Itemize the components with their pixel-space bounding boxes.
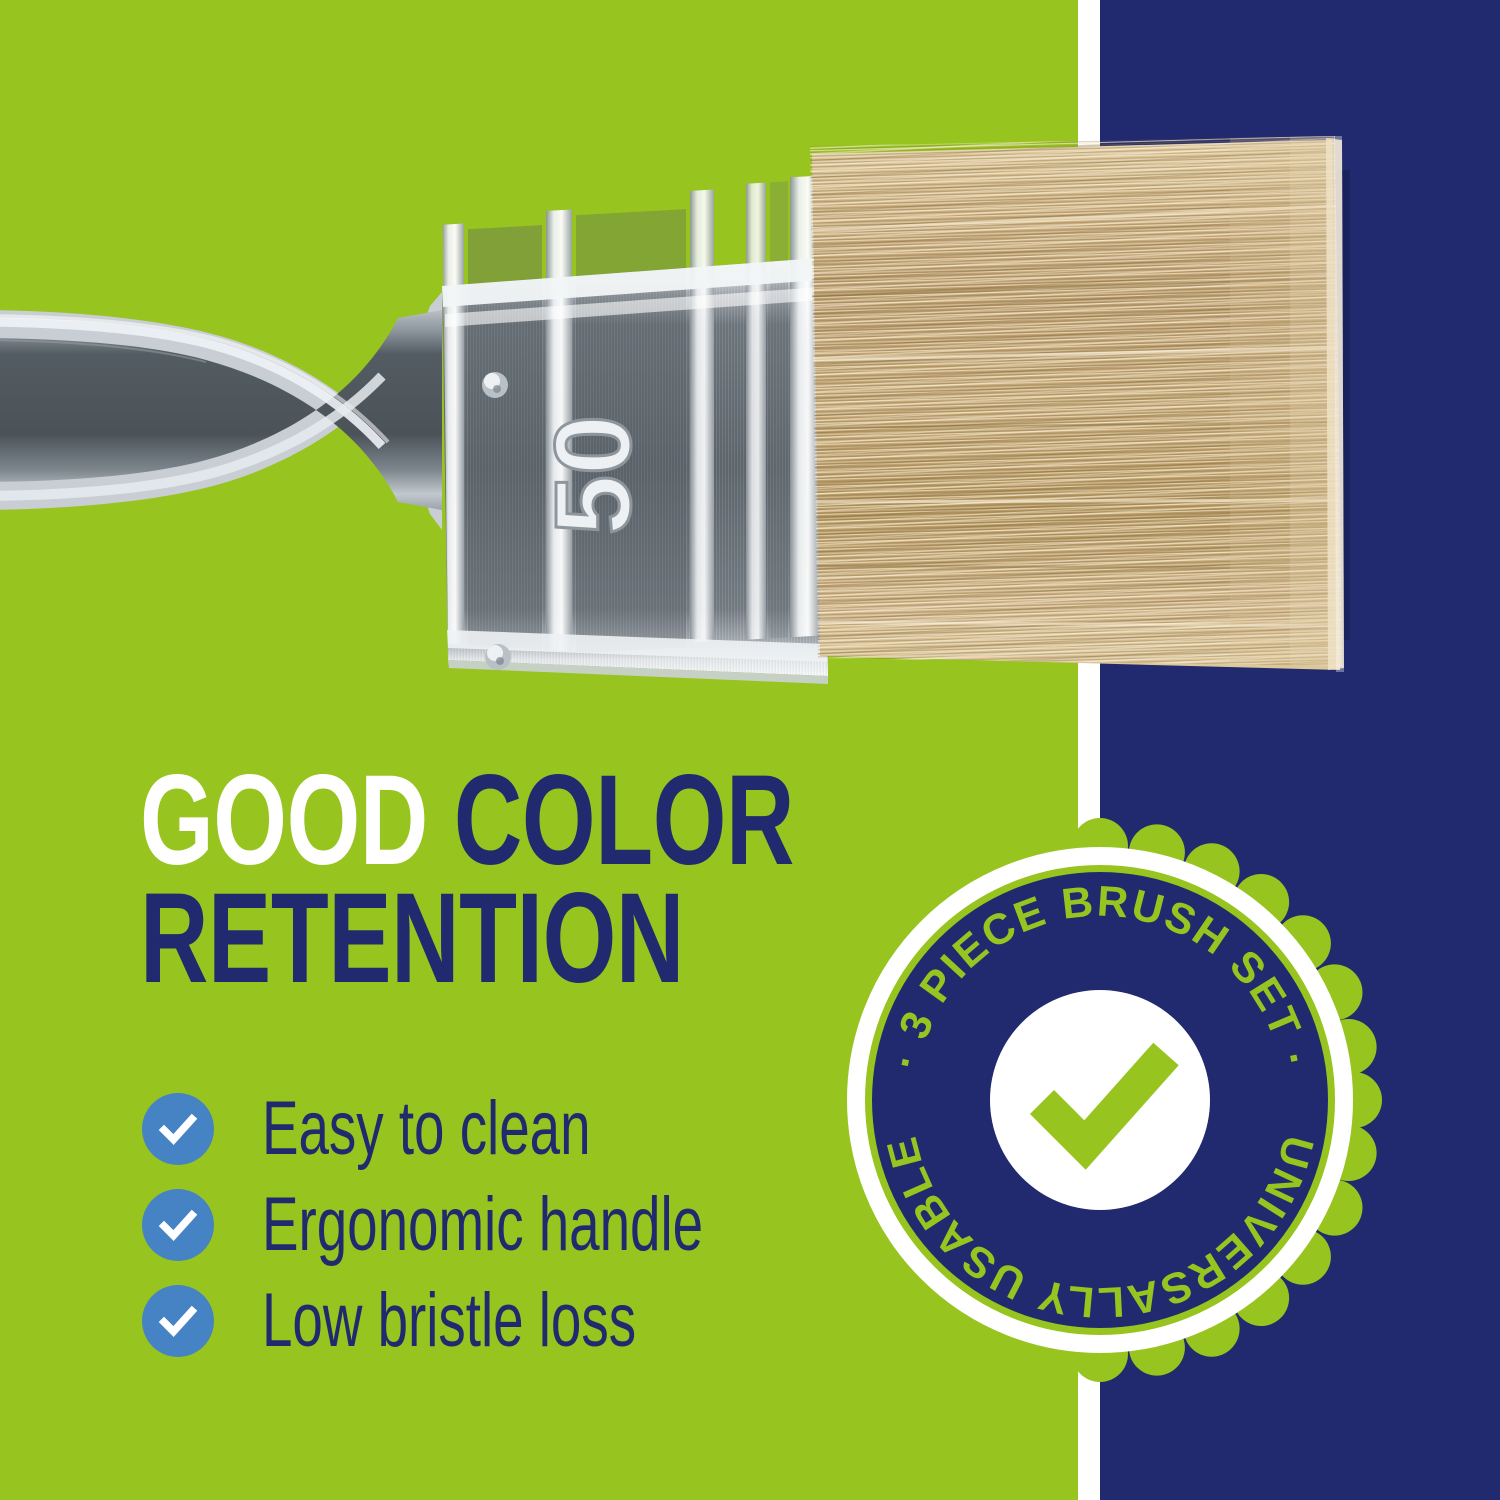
status-badge: · 3 PIECE BRUSH SET · UNIVERSALLY USABLE xyxy=(836,836,1364,1364)
product-infographic: 50 xyxy=(0,0,1500,1500)
check-icon xyxy=(142,1189,214,1261)
list-item: Easy to clean xyxy=(142,1085,862,1173)
list-item: Ergonomic handle xyxy=(142,1181,862,1269)
list-item-label: Ergonomic handle xyxy=(262,1187,703,1263)
ferrule-size-marking: 50 xyxy=(532,415,653,535)
headline-line-1: GOOD COLOR xyxy=(140,762,747,880)
check-icon xyxy=(142,1093,214,1165)
headline-line-2: RETENTION xyxy=(140,880,747,998)
svg-text:50: 50 xyxy=(532,415,653,535)
list-item-label: Low bristle loss xyxy=(262,1283,636,1359)
list-item: Low bristle loss xyxy=(142,1277,862,1365)
brush-handle xyxy=(0,165,460,655)
badge-inner-circle xyxy=(990,990,1210,1210)
brush-bristles xyxy=(800,130,1350,690)
paint-brush-image: 50 xyxy=(0,110,1350,690)
list-item-label: Easy to clean xyxy=(262,1091,591,1167)
brush-ferrule: 50 xyxy=(442,176,828,684)
check-icon xyxy=(142,1285,214,1357)
feature-list: Easy to clean Ergonomic handle Low brist… xyxy=(142,1085,862,1373)
